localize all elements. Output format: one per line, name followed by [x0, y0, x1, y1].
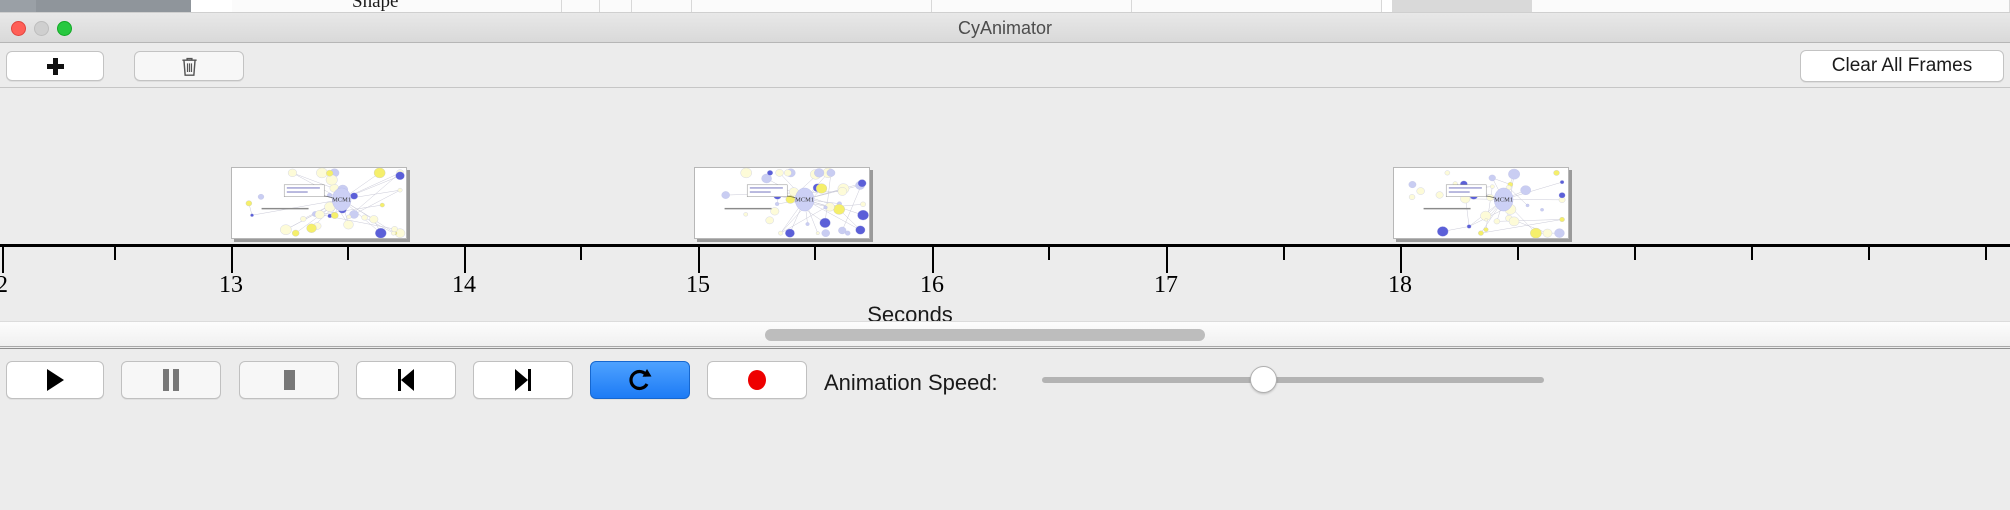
background-panel-7	[1132, 0, 1382, 13]
ruler-tick-label: 17	[1154, 272, 1178, 299]
window-title: CyAnimator	[0, 13, 2010, 43]
background-panel-2	[562, 0, 600, 13]
delete-frame-button[interactable]	[134, 51, 244, 81]
skip-end-icon	[512, 368, 534, 392]
ruler-baseline	[0, 244, 2010, 247]
background-panel-8	[1392, 0, 1532, 13]
background-panel-5	[692, 0, 932, 13]
ruler-tick	[2, 247, 4, 273]
ruler-tick	[1868, 247, 1870, 260]
stop-button[interactable]	[239, 361, 339, 399]
svg-text:MCM1: MCM1	[795, 197, 814, 204]
animation-speed-slider[interactable]	[1042, 377, 1544, 383]
ruler-tick	[932, 247, 934, 273]
ruler-tick	[464, 247, 466, 273]
skip-end-button[interactable]	[473, 361, 573, 399]
loop-icon	[628, 367, 652, 393]
ruler-tick	[347, 247, 349, 260]
background-window-dark-2	[36, 0, 191, 13]
timeline-scrollbar[interactable]	[0, 321, 2010, 347]
title-bar: CyAnimator	[0, 13, 2010, 43]
ruler-tick-label: 15	[686, 272, 710, 299]
slider-thumb[interactable]	[1250, 366, 1277, 393]
animation-speed-label: Animation Speed:	[824, 370, 998, 396]
timeline-panel[interactable]: MCM1MCM1MCM1 2131415161718 Seconds	[0, 89, 2010, 321]
ruler-tick	[1166, 247, 1168, 273]
playback-controls: Animation Speed:	[0, 348, 2010, 510]
record-button[interactable]	[707, 361, 807, 399]
ruler-tick	[814, 247, 816, 260]
ruler-tick	[1283, 247, 1285, 260]
play-icon	[44, 368, 66, 392]
skip-start-button[interactable]	[356, 361, 456, 399]
ruler-tick-label: 2	[0, 272, 8, 299]
add-frame-button[interactable]	[6, 51, 104, 81]
timeline-ruler: 2131415161718 Seconds	[0, 244, 2010, 321]
background-panel-3	[600, 0, 632, 13]
frame-thumbnail[interactable]: MCM1	[694, 167, 870, 239]
loop-button[interactable]	[590, 361, 690, 399]
play-button[interactable]	[6, 361, 104, 399]
svg-text:MCM1: MCM1	[1494, 197, 1513, 204]
svg-text:MCM1: MCM1	[332, 197, 351, 204]
ruler-tick-label: 13	[219, 272, 243, 299]
background-windows-strip: Shape	[0, 0, 2010, 13]
trash-icon	[180, 56, 198, 77]
frames-layer: MCM1MCM1MCM1	[0, 89, 2010, 244]
ruler-tick	[1634, 247, 1636, 260]
frame-thumbnail[interactable]: MCM1	[1393, 167, 1569, 239]
background-panel-9	[1532, 0, 2010, 13]
ruler-tick	[1517, 247, 1519, 260]
skip-start-icon	[395, 368, 417, 392]
ruler-tick	[1985, 247, 1987, 260]
background-panel-4	[632, 0, 692, 13]
axis-title: Seconds	[867, 302, 953, 321]
ruler-tick	[1048, 247, 1050, 260]
frame-toolbar: Clear All Frames	[0, 44, 2010, 88]
clear-all-frames-label: Clear All Frames	[1832, 55, 1972, 77]
cyanimator-window: Shape CyAnimator Clear All Fram	[0, 0, 2010, 510]
scrollbar-thumb[interactable]	[765, 329, 1205, 341]
frame-thumbnail[interactable]: MCM1	[231, 167, 407, 239]
background-panel-6	[932, 0, 1132, 13]
ruler-tick	[1751, 247, 1753, 260]
slider-track	[1042, 377, 1544, 383]
pause-icon	[161, 368, 181, 392]
ruler-tick-label: 16	[920, 272, 944, 299]
ruler-tick	[1400, 247, 1402, 273]
ruler-tick	[698, 247, 700, 273]
clear-all-frames-button[interactable]: Clear All Frames	[1800, 50, 2004, 82]
ruler-tick	[231, 247, 233, 273]
ruler-tick-label: 14	[452, 272, 476, 299]
pause-button[interactable]	[121, 361, 221, 399]
plus-icon	[47, 58, 64, 75]
ruler-tick-label: 18	[1388, 272, 1412, 299]
record-icon	[745, 368, 769, 392]
background-window-dark	[0, 0, 36, 13]
ruler-tick	[114, 247, 116, 260]
background-app-label: Shape	[352, 0, 398, 13]
stop-icon	[279, 368, 299, 392]
ruler-tick	[580, 247, 582, 260]
